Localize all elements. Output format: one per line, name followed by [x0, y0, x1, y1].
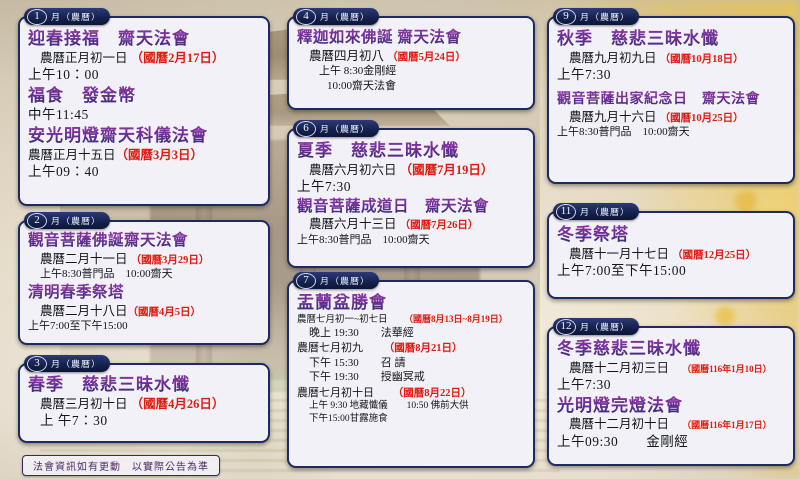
lunar-date: 農曆二月十八日 [40, 304, 128, 318]
month-badge-label: 月（農曆） [320, 274, 370, 286]
month-badge-label: 月（農曆） [51, 214, 101, 226]
month-badge-label: 月（農曆） [580, 10, 630, 22]
event-time: 上午10：00 [28, 66, 260, 84]
month-badge-label: 月（農曆） [320, 122, 370, 134]
event-date-line: 農曆七月初九 （國曆8月21日） [297, 341, 525, 356]
month-badge-4: 4 月（農曆） [293, 8, 379, 25]
event-time: 上 午7：30 [28, 412, 260, 430]
disclaimer-note: 法會資訊如有更動 以實際公告為準 [22, 455, 220, 476]
solar-date: （國曆10月18日） [660, 54, 744, 65]
event-time: 上午 8:30金剛經 [297, 64, 525, 78]
calendar-poster: 1 月（農曆） 迎春接福 齋天法會 農曆正月初一日 （國曆2月17日） 上午10… [0, 0, 800, 479]
month-number: 2 [27, 213, 47, 229]
lunar-date: 農曆正月初一日 [40, 51, 128, 65]
event-block: 觀音菩薩成道日 齋天法會 農曆六月十三日 （國曆7月26日） 上午8:30普門品… [297, 197, 525, 248]
event-block: 秋季 慈悲三昧水懺 農曆九月初九日 （國曆10月18日） 上午7:30 [557, 28, 785, 84]
event-title: 盂蘭盆勝會 [297, 292, 525, 314]
month-badge-label: 月（農曆） [580, 205, 630, 217]
event-date-line: 農曆九月十六日 （國曆10月25日） [557, 109, 785, 126]
event-title: 福食 發金幣 [28, 85, 260, 107]
month-number: 6 [296, 121, 316, 137]
event-title: 秋季 慈悲三昧水懺 [557, 28, 785, 50]
event-title: 安光明燈齋天科儀法會 [28, 125, 260, 147]
solar-date: （國曆4月5日） [128, 307, 202, 318]
month-badge-label: 月（農曆） [320, 10, 370, 22]
lunar-date: 農曆九月十六日 [569, 110, 657, 124]
solar-date: （國曆5月24日） [387, 52, 466, 63]
month-badge-label: 月（農曆） [51, 10, 101, 22]
event-date-line: 農曆正月初一日 （國曆2月17日） [28, 50, 260, 66]
solar-date: （國曆2月17日） [131, 51, 225, 65]
month-badge-1: 1 月（農曆） [24, 8, 110, 25]
month-badge-12: 12 月（農曆） [553, 318, 639, 335]
month-card-3[interactable]: 春季 慈悲三昧水懺 農曆三月初十日 （國曆4月26日） 上 午7：30 [18, 363, 270, 443]
solar-date: （國曆8月21日） [366, 343, 463, 354]
event-date-line: 農曆十一月十七日 （國曆12月25日） [557, 246, 785, 263]
solar-date: （國曆116年1月10日） [672, 364, 772, 374]
month-number: 11 [556, 204, 576, 220]
month-badge-11: 11 月（農曆） [553, 203, 639, 220]
event-time: 上午7:30 [557, 376, 785, 394]
solar-date: （國曆12月25日） [672, 250, 756, 261]
event-block: 冬季慈悲三昧水懺 農曆十二月初三日 （國曆116年1月10日） 上午7:30 [557, 338, 785, 394]
event-block: 農曆七月初九 （國曆8月21日） 下午 15:30 召 請 下午 19:30 授… [297, 341, 525, 384]
lunar-date: 農曆七月初一~初七日 [297, 315, 388, 325]
month-badge-6: 6 月（農曆） [293, 120, 379, 137]
solar-date: （國曆116年1月17日） [672, 420, 772, 430]
lunar-date: 農曆九月初九日 [569, 51, 657, 65]
event-title: 夏季 慈悲三昧水懺 [297, 140, 525, 162]
event-date-line: 農曆九月初九日 （國曆10月18日） [557, 50, 785, 67]
month-badge-3: 3 月（農曆） [24, 355, 110, 372]
solar-date: （國曆10月25日） [660, 113, 744, 124]
month-card-1[interactable]: 迎春接福 齋天法會 農曆正月初一日 （國曆2月17日） 上午10：00 福食 發… [18, 16, 270, 206]
lunar-date: 農曆三月初十日 [40, 397, 128, 411]
event-time: 上午8:30普門品 10:00齋天 [557, 125, 785, 139]
event-block: 迎春接福 齋天法會 農曆正月初一日 （國曆2月17日） 上午10：00 [28, 28, 260, 84]
event-block: 安光明燈齋天科儀法會 農曆正月十五日（國曆3月3日） 上午09：40 [28, 125, 260, 181]
event-time: 上午7:30 [297, 178, 525, 196]
event-title: 光明燈完燈法會 [557, 395, 785, 417]
event-date-line: 農曆十二月初十日 （國曆116年1月17日） [557, 416, 785, 432]
event-block: 福食 發金幣 中午11:45 [28, 85, 260, 124]
event-title: 冬季慈悲三昧水懺 [557, 338, 785, 360]
event-time: 下午 15:30 召 請 [297, 356, 525, 370]
solar-date: （國曆8月13日~8月19日） [390, 314, 508, 324]
event-time: 下午15:00甘露施食 [297, 413, 525, 425]
lunar-date: 農曆六月初六日 [309, 163, 397, 177]
event-date-line: 農曆六月初六日 （國曆7月19日） [297, 162, 525, 178]
solar-date: （國曆3月29日） [131, 255, 210, 266]
solar-date: （國曆8月22日） [377, 388, 472, 399]
month-number: 3 [27, 356, 47, 372]
lunar-date: 農曆二月十一日 [40, 252, 128, 266]
event-block: 夏季 慈悲三昧水懺 農曆六月初六日 （國曆7月19日） 上午7:30 [297, 140, 525, 196]
event-date-line: 農曆二月十八日（國曆4月5日） [28, 303, 260, 320]
month-number: 12 [556, 319, 576, 335]
event-date-line: 農曆四月初八 （國曆5月24日） [297, 48, 525, 65]
event-time: 晚上 19:30 法華經 [297, 326, 525, 340]
month-number: 4 [296, 9, 316, 25]
event-title: 釋迦如來佛誕 齋天法會 [297, 28, 525, 48]
event-block: 釋迦如來佛誕 齋天法會 農曆四月初八 （國曆5月24日） 上午 8:30金剛經 … [297, 28, 525, 93]
solar-date: （國曆7月26日） [400, 220, 479, 231]
event-time: 下午 19:30 授幽冥戒 [297, 370, 525, 384]
solar-date: （國曆4月26日） [131, 397, 225, 411]
lunar-date: 農曆七月初十日 [297, 387, 374, 399]
event-title: 觀音菩薩出家紀念日 齋天法會 [557, 91, 785, 109]
event-block: 觀音菩薩出家紀念日 齋天法會 農曆九月十六日 （國曆10月25日） 上午8:30… [557, 91, 785, 140]
event-title: 觀音菩薩佛誕齋天法會 [28, 231, 260, 251]
event-block: 盂蘭盆勝會 農曆七月初一~初七日 （國曆8月13日~8月19日） 晚上 19:3… [297, 292, 525, 340]
event-date-line: 農曆二月十一日 （國曆3月29日） [28, 251, 260, 268]
month-card-12[interactable]: 冬季慈悲三昧水懺 農曆十二月初三日 （國曆116年1月10日） 上午7:30 光… [547, 326, 795, 466]
event-title: 觀音菩薩成道日 齋天法會 [297, 197, 525, 217]
lunar-date: 農曆七月初九 [297, 342, 363, 354]
event-date-line: 農曆三月初十日 （國曆4月26日） [28, 396, 260, 412]
month-number: 1 [27, 9, 47, 25]
event-time: 上午09:30 金剛經 [557, 433, 785, 451]
lunar-date: 農曆十一月十七日 [569, 247, 669, 261]
event-time: 中午11:45 [28, 106, 260, 124]
month-card-9[interactable]: 秋季 慈悲三昧水懺 農曆九月初九日 （國曆10月18日） 上午7:30 觀音菩薩… [547, 16, 795, 184]
month-card-2[interactable]: 觀音菩薩佛誕齋天法會 農曆二月十一日 （國曆3月29日） 上午8:30普門品 1… [18, 220, 270, 345]
event-block: 春季 慈悲三昧水懺 農曆三月初十日 （國曆4月26日） 上 午7：30 [28, 374, 260, 430]
solar-date: （國曆3月3日） [116, 148, 204, 162]
month-badge-7: 7 月（農曆） [293, 272, 379, 289]
month-badge-2: 2 月（農曆） [24, 212, 110, 229]
month-badge-label: 月（農曆） [51, 357, 101, 369]
month-card-7[interactable]: 盂蘭盆勝會 農曆七月初一~初七日 （國曆8月13日~8月19日） 晚上 19:3… [287, 280, 535, 468]
event-block: 觀音菩薩佛誕齋天法會 農曆二月十一日 （國曆3月29日） 上午8:30普門品 1… [28, 231, 260, 282]
event-time: 上午8:30普門品 10:00齋天 [297, 233, 525, 247]
month-card-11[interactable]: 冬季祭塔 農曆十一月十七日 （國曆12月25日） 上午7:00至下午15:00 [547, 211, 795, 299]
event-time: 上午7:00至下午15:00 [28, 319, 260, 333]
event-block: 冬季祭塔 農曆十一月十七日 （國曆12月25日） 上午7:00至下午15:00 [557, 224, 785, 280]
event-time: 上午7:30 [557, 66, 785, 84]
event-time: 上午 9:30 地藏懺儀 10:50 佛前大供 [297, 400, 525, 412]
event-time: 上午09：40 [28, 163, 260, 181]
event-date-line: 農曆六月十三日 （國曆7月26日） [297, 216, 525, 233]
event-title: 迎春接福 齋天法會 [28, 28, 260, 50]
month-badge-9: 9 月（農曆） [553, 8, 639, 25]
event-title: 春季 慈悲三昧水懺 [28, 374, 260, 396]
event-block: 清明春季祭塔 農曆二月十八日（國曆4月5日） 上午7:00至下午15:00 [28, 283, 260, 334]
event-date-line: 農曆七月初十日 （國曆8月22日） [297, 386, 525, 401]
lunar-date: 農曆四月初八 [309, 49, 384, 63]
month-number: 7 [296, 273, 316, 289]
event-title: 冬季祭塔 [557, 224, 785, 246]
lunar-date: 農曆十二月初三日 [569, 361, 669, 375]
lunar-date: 農曆正月十五日 [28, 148, 116, 162]
event-block: 農曆七月初十日 （國曆8月22日） 上午 9:30 地藏懺儀 10:50 佛前大… [297, 386, 525, 425]
solar-date: （國曆7月19日） [400, 163, 494, 177]
month-badge-label: 月（農曆） [580, 320, 630, 332]
month-card-6[interactable]: 夏季 慈悲三昧水懺 農曆六月初六日 （國曆7月19日） 上午7:30 觀音菩薩成… [287, 128, 535, 268]
event-time: 上午7:00至下午15:00 [557, 262, 785, 280]
lunar-date: 農曆六月十三日 [309, 217, 397, 231]
event-block: 光明燈完燈法會 農曆十二月初十日 （國曆116年1月17日） 上午09:30 金… [557, 395, 785, 451]
event-time: 10:00齋天法會 [297, 79, 525, 93]
month-number: 9 [556, 9, 576, 25]
event-date-line: 農曆七月初一~初七日 （國曆8月13日~8月19日） [297, 314, 525, 326]
event-title: 清明春季祭塔 [28, 283, 260, 303]
event-date-line: 農曆正月十五日（國曆3月3日） [28, 147, 260, 163]
lunar-date: 農曆十二月初十日 [569, 417, 669, 431]
month-card-4[interactable]: 釋迦如來佛誕 齋天法會 農曆四月初八 （國曆5月24日） 上午 8:30金剛經 … [287, 16, 535, 110]
event-date-line: 農曆十二月初三日 （國曆116年1月10日） [557, 360, 785, 376]
event-time: 上午8:30普門品 10:00齋天 [28, 267, 260, 281]
